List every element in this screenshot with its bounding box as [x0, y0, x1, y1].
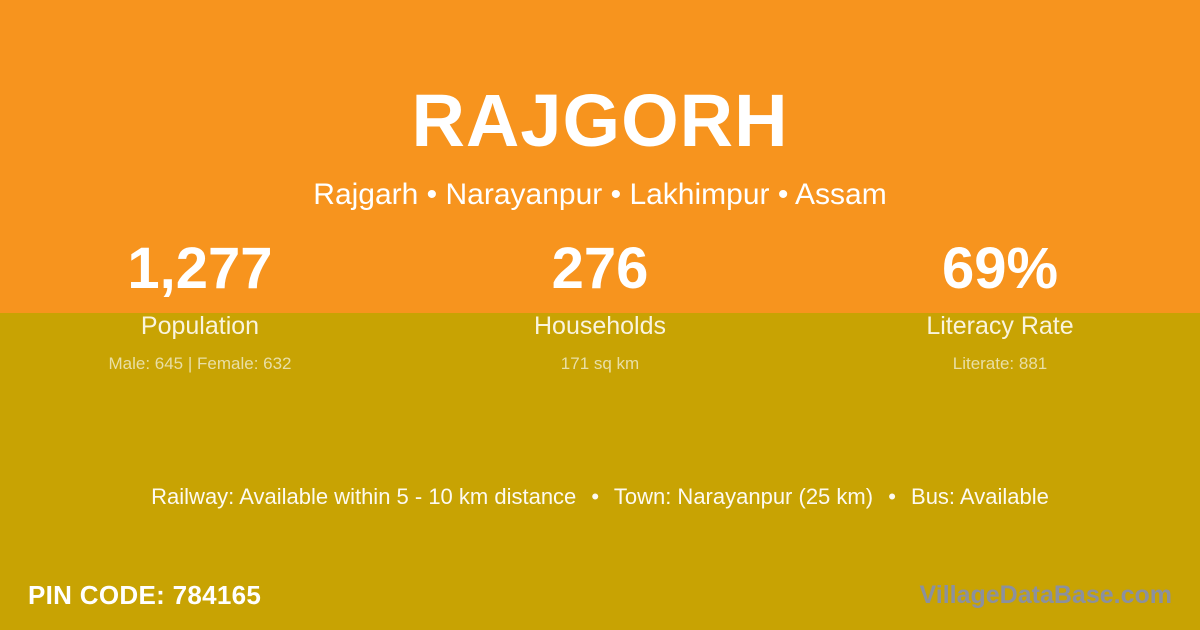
- page-title: RAJGORH: [0, 0, 1200, 158]
- site-brand-logo: VillageDataBase.com: [920, 575, 1172, 615]
- stat-label-population: Population: [0, 314, 400, 339]
- bullet-separator-icon: •: [582, 484, 608, 509]
- stat-households: 276 Households 171 sq km: [400, 240, 800, 372]
- village-info-card: RAJGORH Rajgarh • Narayanpur • Lakhimpur…: [0, 0, 1200, 630]
- infra-bus: Bus: Available: [911, 484, 1049, 509]
- bullet-separator-icon: •: [879, 484, 905, 509]
- breadcrumb: Rajgarh • Narayanpur • Lakhimpur • Assam: [0, 158, 1200, 210]
- stat-label-households: Households: [400, 314, 800, 339]
- card-footer: PIN CODE: 784165 VillageDataBase.com: [0, 575, 1200, 615]
- stat-population: 1,277 Population Male: 645 | Female: 632: [0, 240, 400, 372]
- stat-value-households: 276: [400, 240, 800, 302]
- stat-sub-population: Male: 645 | Female: 632: [0, 355, 400, 372]
- stat-value-literacy-rate: 69%: [800, 240, 1200, 302]
- pin-code: PIN CODE: 784165: [28, 575, 261, 615]
- infrastructure-line: Railway: Available within 5 - 10 km dist…: [0, 486, 1200, 508]
- stat-sub-literacy-rate: Literate: 881: [800, 355, 1200, 372]
- infra-town: Town: Narayanpur (25 km): [614, 484, 873, 509]
- stats-row: 1,277 Population Male: 645 | Female: 632…: [0, 240, 1200, 372]
- stat-sub-households: 171 sq km: [400, 355, 800, 372]
- infra-railway: Railway: Available within 5 - 10 km dist…: [151, 484, 576, 509]
- stat-value-population: 1,277: [0, 240, 400, 302]
- stat-literacy-rate: 69% Literacy Rate Literate: 881: [800, 240, 1200, 372]
- stat-label-literacy-rate: Literacy Rate: [800, 314, 1200, 339]
- card-header: RAJGORH Rajgarh • Narayanpur • Lakhimpur…: [0, 0, 1200, 210]
